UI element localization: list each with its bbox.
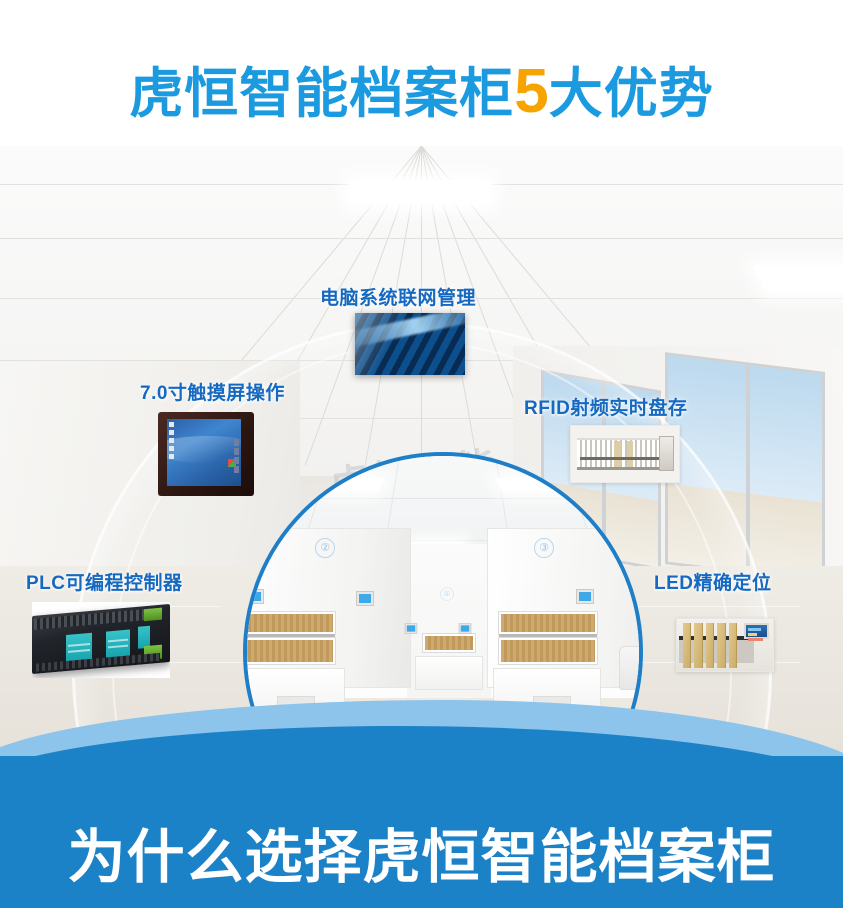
shelf-left-upper <box>243 612 335 634</box>
shelf-left-lower <box>243 638 335 664</box>
cabinet-number-1: ① <box>440 587 454 601</box>
cabinet-number-2: ② <box>315 538 335 558</box>
cabinet-display-right[interactable] <box>577 590 593 603</box>
page-title-prefix: 虎恒智能档案柜 <box>129 58 514 130</box>
feature-label-plc-controller: PLC可编程控制器 <box>26 568 183 595</box>
cabinet-display-far-right[interactable] <box>459 624 470 633</box>
desk-far <box>415 656 483 690</box>
page-title: 虎恒智能档案柜5大优势 <box>0 56 843 128</box>
led-shelf-photo <box>676 618 774 672</box>
footer-banner-text: 为什么选择虎恒智能档案柜 <box>0 818 843 898</box>
promo-page: 虎恒智能档案柜5大优势 <box>0 0 843 908</box>
shelf-right-lower <box>499 638 597 664</box>
rfid-rack-photo <box>570 425 680 483</box>
cabinet-display-far-left[interactable] <box>405 624 416 633</box>
cabinet-display-left[interactable] <box>247 590 263 603</box>
feature-label-led-positioning: LED精确定位 <box>654 568 772 595</box>
page-title-number: 5 <box>514 57 548 126</box>
ceiling-light <box>754 266 843 292</box>
feature-label-computer-network-management: 电脑系统联网管理 <box>320 283 476 310</box>
ceiling-light <box>350 180 490 204</box>
chair <box>619 646 643 690</box>
touch-panel-photo <box>158 412 254 496</box>
page-title-suffix: 大优势 <box>549 58 714 130</box>
feature-label-touch-screen: 7.0寸触摸屏操作 <box>140 378 285 405</box>
shelf-far <box>423 634 475 652</box>
cabinet-number-3: ③ <box>534 538 554 558</box>
room-corridor <box>407 544 491 716</box>
cabinet-display-left-2[interactable] <box>357 592 373 605</box>
plc-module-photo <box>32 602 170 678</box>
shelf-right-upper <box>499 612 597 634</box>
keyboard-photo <box>355 313 465 375</box>
feature-label-rfid-inventory: RFID射频实时盘存 <box>524 393 687 420</box>
